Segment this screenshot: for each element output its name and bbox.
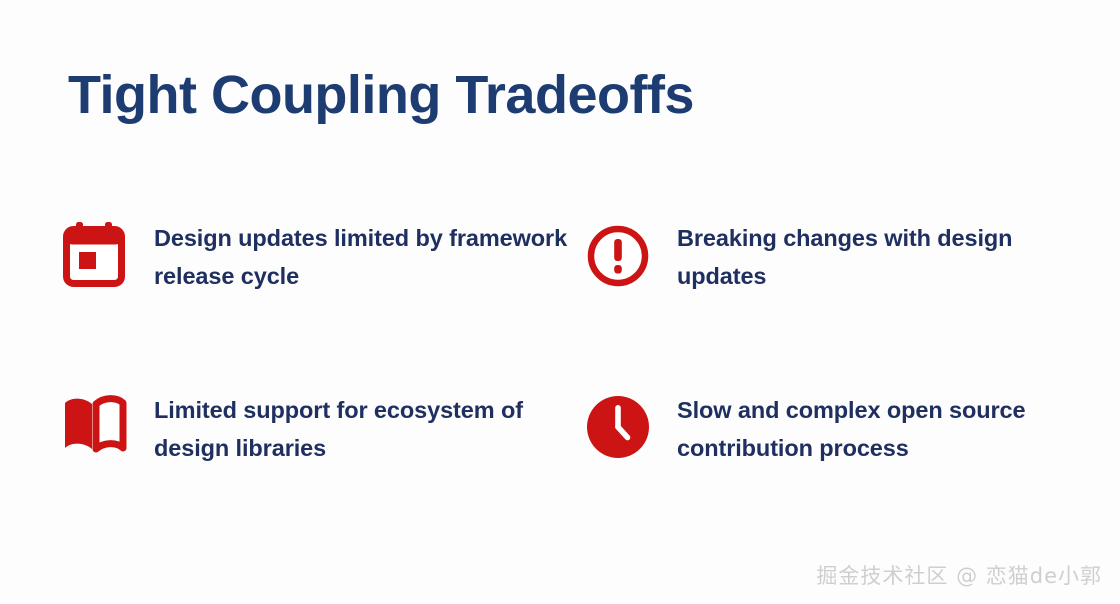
- tradeoff-point-label: Limited support for ecosystem of design …: [154, 390, 574, 468]
- slide-canvas: Tight Coupling Tradeoffs Design updat: [0, 0, 1120, 604]
- tradeoff-point-label: Design updates limited by framework rele…: [154, 218, 574, 296]
- page-title: Tight Coupling Tradeoffs: [68, 66, 694, 125]
- tradeoff-points-grid: Design updates limited by framework rele…: [60, 218, 1090, 562]
- tradeoff-point: Limited support for ecosystem of design …: [60, 390, 585, 562]
- tradeoff-point: Design updates limited by framework rele…: [60, 218, 585, 390]
- open-book-icon: [60, 390, 128, 466]
- tradeoff-point: Breaking changes with design updates: [585, 218, 1090, 390]
- alert-circle-icon: [585, 218, 651, 294]
- calendar-icon: [60, 218, 128, 294]
- tradeoff-point-label: Slow and complex open source contributio…: [677, 390, 1077, 468]
- clock-icon: [585, 390, 651, 466]
- tradeoff-point: Slow and complex open source contributio…: [585, 390, 1090, 562]
- watermark: 掘金技术社区 @ 恋猫de小郭: [816, 560, 1102, 590]
- tradeoff-point-label: Breaking changes with design updates: [677, 218, 1077, 296]
